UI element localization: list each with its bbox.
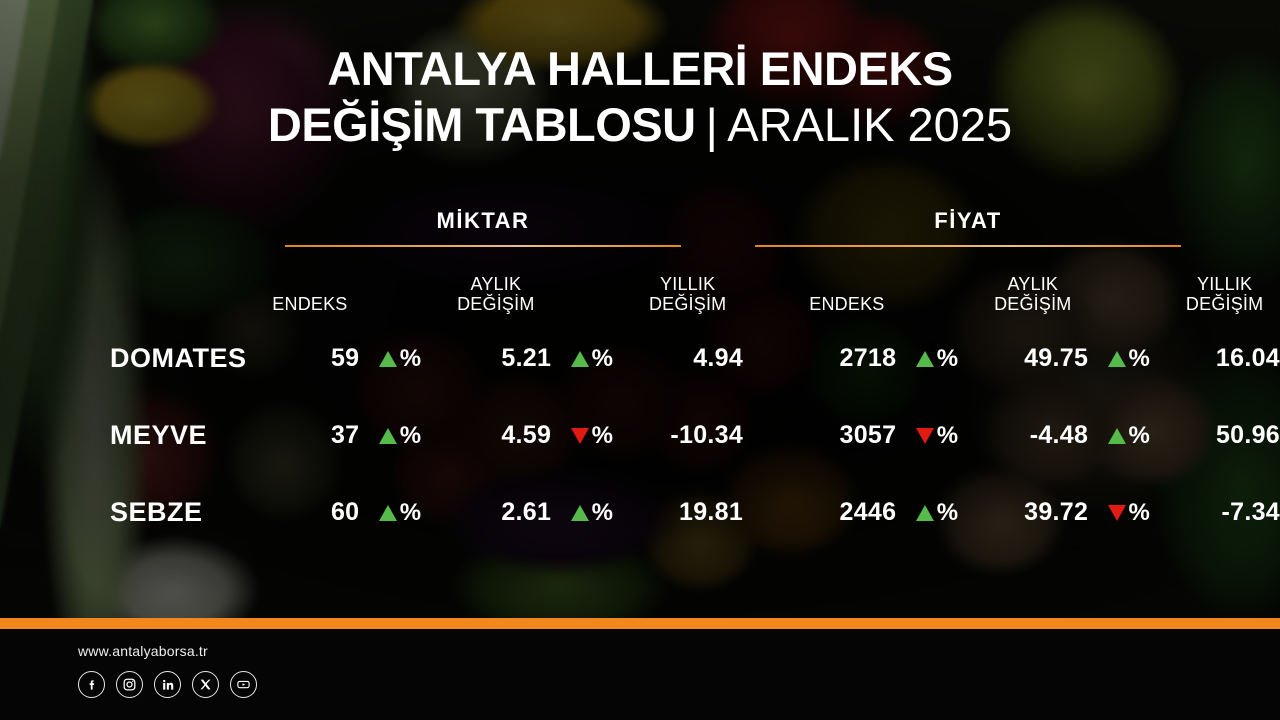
group-header-fiyat: FİYAT — [755, 208, 1181, 247]
social-links — [78, 671, 257, 698]
cell-miktar-yillik: -10.34 — [632, 421, 743, 450]
title-period: ARALIK 2025 — [727, 98, 1012, 151]
index-change-table: ENDEKS AYLIKDEĞİŞİM YILLIKDEĞİŞİM ENDEKS… — [0, 262, 1280, 551]
table-body: DOMATES59%5.21%4.942718%49.75%16.04MEYVE… — [0, 320, 1280, 551]
row-label-domates: DOMATES — [0, 343, 261, 374]
indicator-miktar-yillik: % — [551, 499, 632, 527]
group-rule-miktar — [285, 245, 681, 247]
row-label-meyve: MEYVE — [0, 420, 260, 451]
arrow-up-icon — [1108, 351, 1126, 367]
table-row: DOMATES59%5.21%4.942718%49.75%16.04 — [0, 320, 1280, 397]
indicator-miktar-aylik: % — [359, 499, 440, 527]
facebook-icon[interactable] — [78, 671, 105, 698]
table-row: MEYVE37%4.59%-10.343057%-4.48%50.96 — [0, 397, 1280, 474]
title-separator: | — [706, 99, 718, 152]
arrow-down-icon — [916, 428, 934, 444]
subheader-miktar-yillik: YILLIKDEĞİŞİM — [632, 274, 743, 320]
cell-miktar-yillik: 4.94 — [632, 344, 743, 373]
arrow-up-icon — [1108, 428, 1126, 444]
indicator-fiyat-aylik: % — [896, 422, 977, 450]
cell-fiyat-endeks: 2446 — [797, 498, 896, 527]
cell-fiyat-yillik: -7.34 — [1169, 498, 1280, 527]
indicator-fiyat-aylik: % — [896, 499, 977, 527]
group-header-miktar: MİKTAR — [285, 208, 681, 247]
title-line-2: DEĞİŞİM TABLOSU|ARALIK 2025 — [0, 100, 1280, 150]
arrow-up-icon — [571, 505, 589, 521]
subheader-miktar-aylik: AYLIKDEĞİŞİM — [440, 274, 551, 320]
infographic-canvas: ANTALYA HALLERİ ENDEKS DEĞİŞİM TABLOSU|A… — [0, 0, 1280, 720]
indicator-miktar-aylik: % — [359, 345, 440, 373]
arrow-up-icon — [916, 505, 934, 521]
group-title-fiyat: FİYAT — [755, 208, 1181, 234]
indicator-miktar-yillik: % — [551, 345, 632, 373]
youtube-icon[interactable] — [230, 671, 257, 698]
footer: www.antalyaborsa.tr — [0, 629, 1280, 720]
website-link[interactable]: www.antalyaborsa.tr — [78, 643, 257, 659]
row-label-sebze: SEBZE — [0, 497, 260, 528]
page-title: ANTALYA HALLERİ ENDEKS DEĞİŞİM TABLOSU|A… — [0, 44, 1280, 150]
cell-miktar-endeks: 37 — [260, 421, 359, 450]
cell-fiyat-endeks: 3057 — [797, 421, 896, 450]
table-subheader-row: ENDEKS AYLIKDEĞİŞİM YILLIKDEĞİŞİM ENDEKS… — [0, 262, 1280, 320]
footer-left: www.antalyaborsa.tr — [78, 643, 257, 698]
indicator-miktar-aylik: % — [359, 422, 440, 450]
subheader-fiyat-aylik: AYLIKDEĞİŞİM — [977, 274, 1088, 320]
title-line-1: ANTALYA HALLERİ ENDEKS — [0, 44, 1280, 94]
arrow-up-icon — [379, 505, 397, 521]
group-title-miktar: MİKTAR — [285, 208, 681, 234]
cell-fiyat-aylik: 39.72 — [977, 498, 1088, 527]
cell-miktar-aylik: 4.59 — [440, 421, 551, 450]
arrow-down-icon — [571, 428, 589, 444]
indicator-fiyat-yillik: % — [1088, 499, 1169, 527]
cell-fiyat-aylik: 49.75 — [977, 344, 1088, 373]
cell-miktar-aylik: 5.21 — [440, 344, 551, 373]
arrow-up-icon — [379, 428, 397, 444]
indicator-miktar-yillik: % — [551, 422, 632, 450]
cell-fiyat-yillik: 50.96 — [1169, 421, 1280, 450]
linkedin-icon[interactable] — [154, 671, 181, 698]
cell-miktar-endeks: 60 — [260, 498, 359, 527]
cell-miktar-endeks: 59 — [261, 344, 360, 373]
arrow-up-icon — [571, 351, 589, 367]
cell-fiyat-yillik: 16.04 — [1169, 344, 1280, 373]
x-twitter-icon[interactable] — [192, 671, 219, 698]
arrow-up-icon — [379, 351, 397, 367]
cell-fiyat-endeks: 2718 — [797, 344, 896, 373]
subheader-fiyat-yillik: YILLIKDEĞİŞİM — [1169, 274, 1280, 320]
subheader-miktar-endeks: ENDEKS — [260, 294, 359, 320]
accent-divider-bar — [0, 618, 1280, 629]
table-row: SEBZE60%2.61%19.812446%39.72%-7.34 — [0, 474, 1280, 551]
subheader-fiyat-endeks: ENDEKS — [797, 294, 896, 320]
indicator-fiyat-yillik: % — [1088, 422, 1169, 450]
instagram-icon[interactable] — [116, 671, 143, 698]
indicator-fiyat-aylik: % — [896, 345, 977, 373]
cell-fiyat-aylik: -4.48 — [977, 421, 1088, 450]
indicator-fiyat-yillik: % — [1088, 345, 1169, 373]
cell-miktar-yillik: 19.81 — [632, 498, 743, 527]
arrow-down-icon — [1108, 505, 1126, 521]
title-main: DEĞİŞİM TABLOSU — [268, 98, 696, 151]
cell-miktar-aylik: 2.61 — [440, 498, 551, 527]
group-rule-fiyat — [755, 245, 1181, 247]
arrow-up-icon — [916, 351, 934, 367]
